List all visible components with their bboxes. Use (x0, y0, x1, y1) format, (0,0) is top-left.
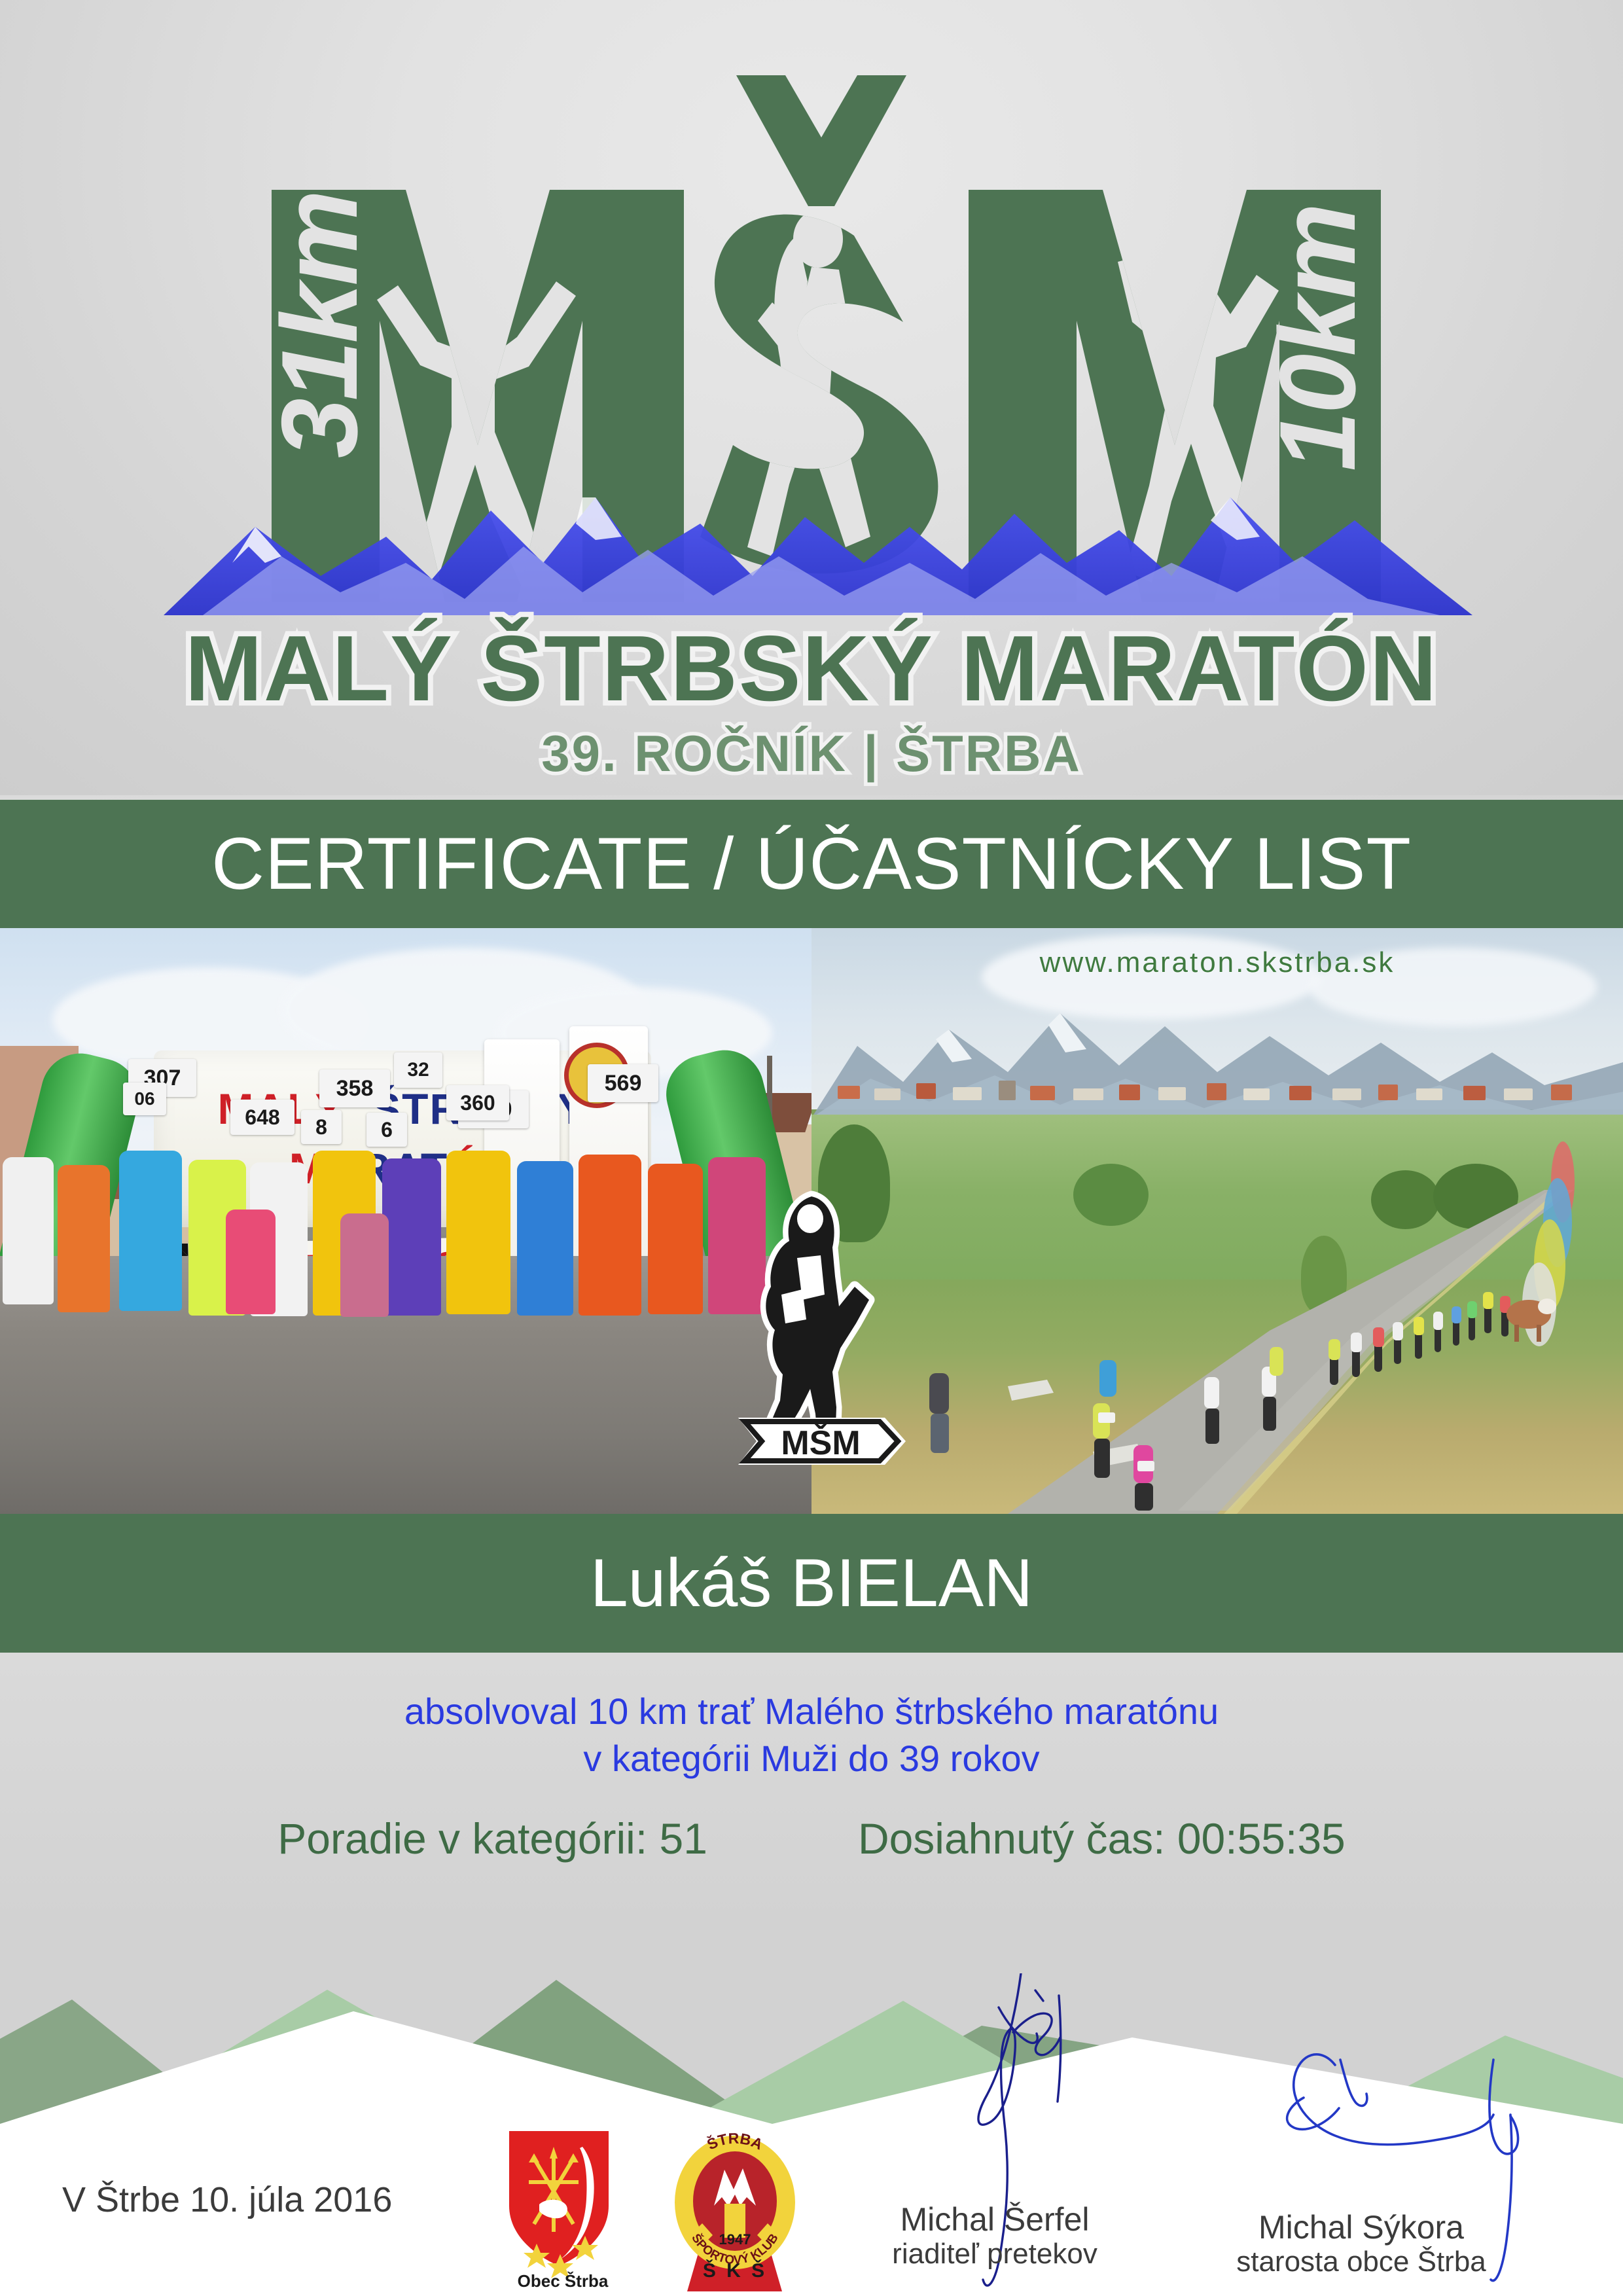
bib-number: 8 (301, 1110, 342, 1144)
signatory-name: Michal Sýkora (1178, 2209, 1544, 2246)
runner-stream (811, 928, 1623, 1514)
edition-text: 39. ROČNÍK | ŠTRBA (541, 725, 1082, 782)
signature-block-serfel: Michal Šerfel riaditeľ pretekov (844, 2201, 1145, 2270)
logo-header: 31km (0, 0, 1623, 795)
issue-date: V Štrbe 10. júla 2016 (62, 2179, 392, 2220)
photo-countryside-road: www.maraton.skstrba.sk (811, 928, 1623, 1514)
signatory-name: Michal Šerfel (844, 2201, 1145, 2238)
certificate-title-band: CERTIFICATE / ÚČASTNÍCKY LIST (0, 800, 1623, 928)
photo-start-arch: MALÝ ŠTRBSKÝ MARATÓN ŠTART - CIEĽ (0, 928, 811, 1514)
msm-mascot-sticker: MŠM (734, 1185, 911, 1473)
signatory-role: starosta obce Štrba (1178, 2246, 1544, 2278)
certificate-title: CERTIFICATE / ÚČASTNÍCKY LIST (211, 827, 1412, 901)
participant-name: Lukáš BIELAN (590, 1549, 1033, 1617)
msm-mascot-graphic: MŠM (734, 1185, 911, 1473)
participant-name-band: Lukáš BIELAN (0, 1514, 1623, 1653)
sks-club-logo: ŠTRBA ŠPORTOVÝ KLUB 1947 Š K Š (664, 2124, 805, 2293)
svg-text:10km: 10km (1257, 206, 1378, 471)
runners-crowd (0, 1151, 811, 1373)
bib-number: 360 (446, 1085, 509, 1121)
bib-number: 358 (319, 1069, 390, 1107)
sks-abbr: Š K Š (703, 2259, 767, 2282)
event-name-text: MALÝ ŠTRBSKÝ MARATÓN (185, 616, 1438, 721)
mascot-banner-text: MŠM (781, 1424, 860, 1462)
result-description-line2: v kategórii Muži do 39 rokov (0, 1735, 1623, 1782)
bib-number: 648 (230, 1100, 294, 1135)
footer-content: V Štrbe 10. júla 2016 (0, 2124, 1623, 2296)
bib-number: 06 (123, 1083, 166, 1115)
obec-strba-crest: Obec Štrba (497, 2127, 632, 2291)
mountain-decoration (0, 1928, 1623, 2124)
signature-block-sykora: Michal Sýkora starosta obce Štrba (1178, 2209, 1544, 2278)
finish-time: Dosiahnutý čas: 00:55:35 (858, 1814, 1346, 1863)
svg-text:31km: 31km (259, 192, 380, 458)
website-url: www.maraton.skstrba.sk (811, 946, 1623, 979)
obec-strba-label: Obec Štrba (518, 2271, 609, 2291)
result-summary: Poradie v kategórii: 51 Dosiahnutý čas: … (0, 1814, 1623, 1863)
msm-logo-graphic: 31km (124, 39, 1499, 792)
bib-number: 569 (588, 1064, 658, 1102)
result-body: absolvoval 10 km trať Malého štrbského m… (0, 1653, 1623, 1928)
signatory-role: riaditeľ pretekov (844, 2238, 1145, 2270)
obec-strba-crest-graphic: Obec Štrba (497, 2127, 632, 2291)
result-description: absolvoval 10 km trať Malého štrbského m… (0, 1688, 1623, 1782)
result-description-line1: absolvoval 10 km trať Malého štrbského m… (0, 1688, 1623, 1735)
sks-club-logo-graphic: ŠTRBA ŠPORTOVÝ KLUB 1947 Š K Š (664, 2124, 805, 2293)
msm-logo: 31km (124, 39, 1499, 792)
mascot-banner: MŠM (738, 1418, 906, 1465)
sks-year: 1947 (719, 2231, 751, 2248)
certificate-page: 31km (0, 0, 1623, 2296)
category-rank: Poradie v kategórii: 51 (277, 1814, 707, 1863)
certificate-footer: V Štrbe 10. júla 2016 (0, 1928, 1623, 2296)
bib-number: 6 (366, 1113, 407, 1147)
bib-number: 32 (394, 1052, 442, 1088)
